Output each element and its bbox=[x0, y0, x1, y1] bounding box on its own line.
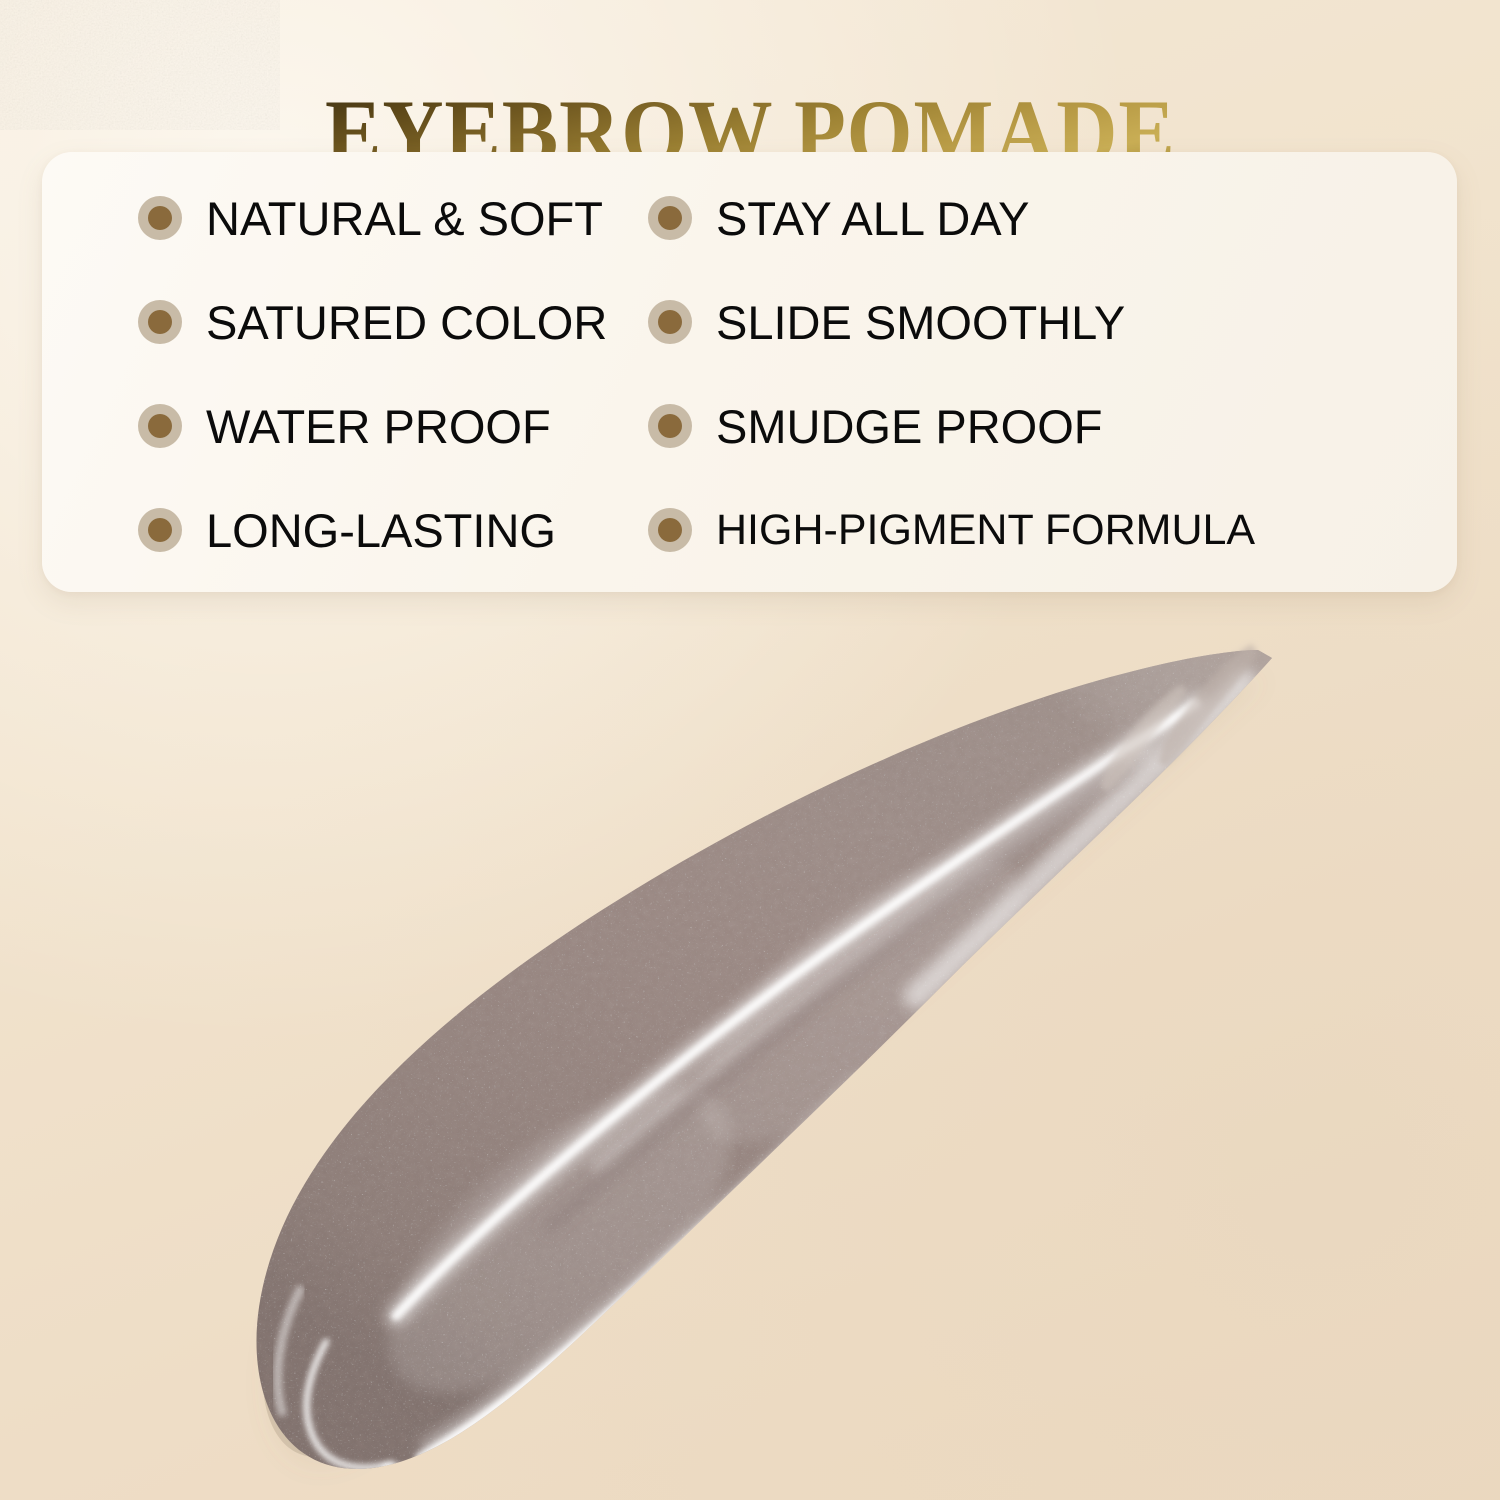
feature-label: SMUDGE PROOF bbox=[716, 403, 1102, 450]
feature-item-long-lasting: LONG-LASTING bbox=[42, 478, 642, 582]
bullet-icon bbox=[138, 404, 182, 448]
feature-label: STAY ALL DAY bbox=[716, 195, 1030, 242]
feature-item-high-pigment-formula: HIGH-PIGMENT FORMULA bbox=[642, 478, 1457, 582]
feature-label: SLIDE SMOOTHLY bbox=[716, 299, 1125, 346]
bullet-icon bbox=[648, 404, 692, 448]
bullet-icon bbox=[648, 196, 692, 240]
feature-item-satured-color: SATURED COLOR bbox=[42, 270, 642, 374]
feature-label: HIGH-PIGMENT FORMULA bbox=[716, 509, 1255, 552]
bullet-icon bbox=[648, 508, 692, 552]
bullet-icon bbox=[138, 508, 182, 552]
bullet-icon bbox=[648, 300, 692, 344]
feature-item-stay-all-day: STAY ALL DAY bbox=[642, 166, 1457, 270]
feature-label: SATURED COLOR bbox=[206, 299, 607, 346]
bullet-icon bbox=[138, 300, 182, 344]
feature-label: NATURAL & SOFT bbox=[206, 195, 603, 242]
feature-label: WATER PROOF bbox=[206, 403, 551, 450]
feature-item-water-proof: WATER PROOF bbox=[42, 374, 642, 478]
bullet-icon bbox=[138, 196, 182, 240]
feature-item-smudge-proof: SMUDGE PROOF bbox=[642, 374, 1457, 478]
product-swatch bbox=[0, 600, 1500, 1500]
product-infographic: EYEBROW POMADE NATURAL & SOFT STAY ALL D… bbox=[0, 0, 1500, 1500]
feature-label: LONG-LASTING bbox=[206, 507, 556, 554]
feature-item-slide-smoothly: SLIDE SMOOTHLY bbox=[642, 270, 1457, 374]
pomade-smear-illustration bbox=[0, 600, 1500, 1500]
feature-card: NATURAL & SOFT STAY ALL DAY SATURED COLO… bbox=[42, 152, 1457, 592]
feature-item-natural-soft: NATURAL & SOFT bbox=[42, 166, 642, 270]
feature-list: NATURAL & SOFT STAY ALL DAY SATURED COLO… bbox=[42, 152, 1457, 592]
